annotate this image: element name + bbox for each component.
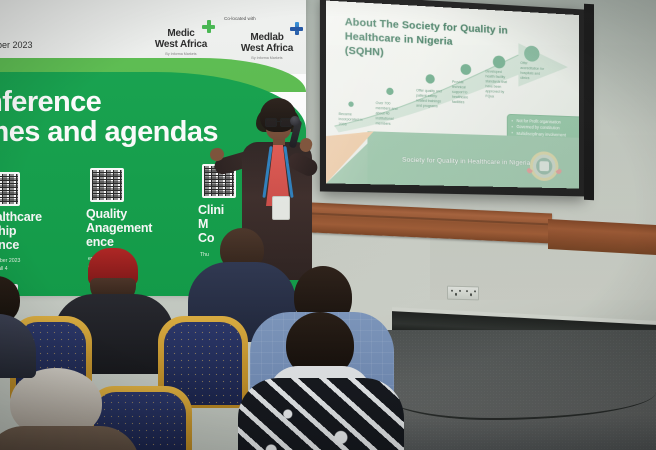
sqhn-crest-icon [524, 146, 564, 186]
presentation-slide: Became incorporated in 2006 Over 700 mem… [326, 1, 579, 189]
projection-screen: Became incorporated in 2006 Over 700 mem… [326, 1, 579, 189]
slide-milestone-2: Offer quality and patient safety related… [416, 88, 442, 109]
banner-date: eptember 2023 [0, 40, 33, 50]
presentation-photo-scene: Became incorporated in 2006 Over 700 mem… [0, 0, 656, 450]
attendee-grey-hair-shoulders [0, 426, 140, 450]
projection-screen-frame-right [584, 4, 594, 201]
logo-medlab-west-africa: Medlab West Africa By Informa Markets [232, 32, 302, 60]
logo-medic-west-africa: Medic West Africa By Informa Markets [146, 28, 216, 56]
logo-medic-byline: By Informa Markets [146, 52, 216, 56]
column-1-title-line2: ership [0, 225, 100, 239]
socket-outlet-left [450, 289, 462, 297]
attendee-grey-hair [0, 368, 126, 450]
green-cross-icon [202, 20, 215, 33]
column-1-title-line1: Healthcare [0, 211, 100, 225]
logo-medic-line2: West Africa [146, 39, 216, 50]
wall-wood-rail-right [548, 219, 656, 255]
qr-code-column-2[interactable] [90, 168, 124, 202]
column-1-title: Healthcare ership erence [0, 211, 100, 252]
attendee-left-edge-shoulders [0, 314, 36, 378]
qr-code-column-1[interactable] [0, 172, 20, 206]
slide-milestone-5: Offer accreditation for hospitals and cl… [520, 61, 545, 82]
colocated-label: Co-located with [224, 16, 256, 21]
slide-milestone-3: Provide technical support to healthcare … [452, 80, 478, 106]
slide-title: About The Society for Quality in Healthc… [345, 16, 515, 66]
attendee-patterned-jacket-body [238, 378, 404, 450]
attendee-patterned-jacket [238, 312, 404, 450]
blue-cross-icon [290, 22, 303, 35]
speaker-glasses [265, 118, 292, 125]
socket-outlet-right [465, 289, 477, 297]
slide-milestone-1: Over 700 members and about 40 institutio… [376, 101, 402, 128]
column-2-title-line1: Quality [86, 208, 206, 222]
speaker-name-badge [272, 196, 290, 220]
attendee-left-edge [0, 276, 38, 372]
slide-milestone-0: Became incorporated in 2006 [339, 112, 366, 128]
slide-milestone-4: Developed health facility standards that… [485, 69, 510, 100]
logo-medlab-line2: West Africa [232, 43, 302, 54]
logo-medlab-byline: By Informa Markets [232, 56, 302, 60]
wall-power-socket [447, 286, 479, 301]
